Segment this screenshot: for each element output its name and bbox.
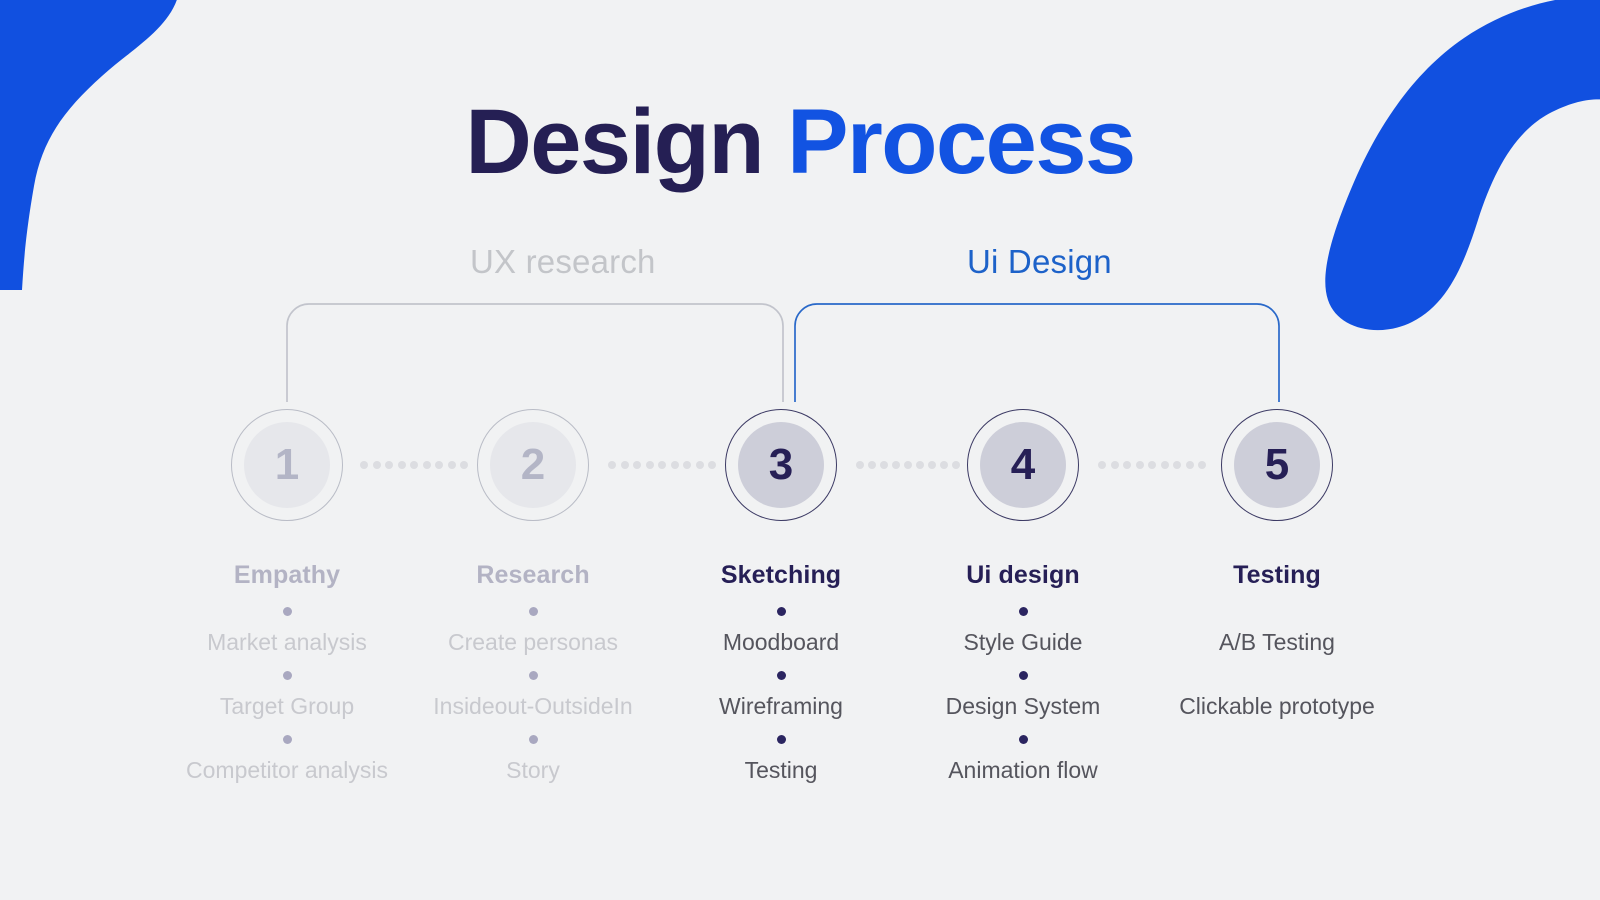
step-subitem: Design System bbox=[893, 694, 1153, 718]
process-step-testing[interactable]: 5 Testing A/B Testing Clickable prototyp… bbox=[1147, 409, 1407, 718]
step-subitem: Testing bbox=[651, 758, 911, 782]
step-subitem: Market analysis bbox=[157, 630, 417, 654]
step-subitem: Moodboard bbox=[651, 630, 911, 654]
step-sublist-3: Moodboard Wireframing Testing bbox=[651, 607, 911, 782]
step-sublist-5: A/B Testing Clickable prototype bbox=[1147, 607, 1407, 718]
step-title-research: Research bbox=[403, 561, 663, 590]
process-steps: 1 Empathy Market analysis Target Group C… bbox=[0, 0, 1600, 900]
step-circle-4[interactable]: 4 bbox=[967, 409, 1079, 521]
step-title-testing: Testing bbox=[1147, 561, 1407, 590]
process-step-ui-design[interactable]: 4 Ui design Style Guide Design System An… bbox=[893, 409, 1153, 782]
step-title-sketching: Sketching bbox=[651, 561, 911, 590]
step-sublist-4: Style Guide Design System Animation flow bbox=[893, 607, 1153, 782]
step-subitem: Create personas bbox=[403, 630, 663, 654]
bullet-icon bbox=[529, 671, 538, 680]
bullet-icon bbox=[529, 735, 538, 744]
bullet-icon bbox=[283, 607, 292, 616]
step-number-1: 1 bbox=[244, 422, 330, 508]
step-number-3: 3 bbox=[738, 422, 824, 508]
step-sublist-2: Create personas Insideout-OutsideIn Stor… bbox=[403, 607, 663, 782]
step-number-4: 4 bbox=[980, 422, 1066, 508]
step-subitem: Wireframing bbox=[651, 694, 911, 718]
bullet-icon bbox=[1019, 671, 1028, 680]
bullet-icon bbox=[777, 735, 786, 744]
bullet-icon bbox=[283, 671, 292, 680]
step-circle-2[interactable]: 2 bbox=[477, 409, 589, 521]
bullet-icon bbox=[1019, 607, 1028, 616]
step-circle-1[interactable]: 1 bbox=[231, 409, 343, 521]
step-subitem: Style Guide bbox=[893, 630, 1153, 654]
bullet-icon bbox=[529, 607, 538, 616]
step-title-ui-design: Ui design bbox=[893, 561, 1153, 590]
step-subitem: Animation flow bbox=[893, 758, 1153, 782]
process-step-empathy[interactable]: 1 Empathy Market analysis Target Group C… bbox=[157, 409, 417, 782]
step-circle-5[interactable]: 5 bbox=[1221, 409, 1333, 521]
step-subitem: A/B Testing bbox=[1147, 630, 1407, 654]
step-subitem: Story bbox=[403, 758, 663, 782]
process-step-research[interactable]: 2 Research Create personas Insideout-Out… bbox=[403, 409, 663, 782]
step-number-5: 5 bbox=[1234, 422, 1320, 508]
bullet-icon bbox=[283, 735, 292, 744]
step-subitem: Competitor analysis bbox=[157, 758, 417, 782]
bullet-icon bbox=[777, 607, 786, 616]
step-sublist-1: Market analysis Target Group Competitor … bbox=[157, 607, 417, 782]
process-step-sketching[interactable]: 3 Sketching Moodboard Wireframing Testin… bbox=[651, 409, 911, 782]
step-number-2: 2 bbox=[490, 422, 576, 508]
step-title-empathy: Empathy bbox=[157, 561, 417, 590]
step-circle-3[interactable]: 3 bbox=[725, 409, 837, 521]
step-subitem: Insideout-OutsideIn bbox=[403, 694, 663, 718]
bullet-icon bbox=[777, 671, 786, 680]
step-subitem: Clickable prototype bbox=[1147, 694, 1407, 718]
step-subitem: Target Group bbox=[157, 694, 417, 718]
bullet-icon bbox=[1019, 735, 1028, 744]
